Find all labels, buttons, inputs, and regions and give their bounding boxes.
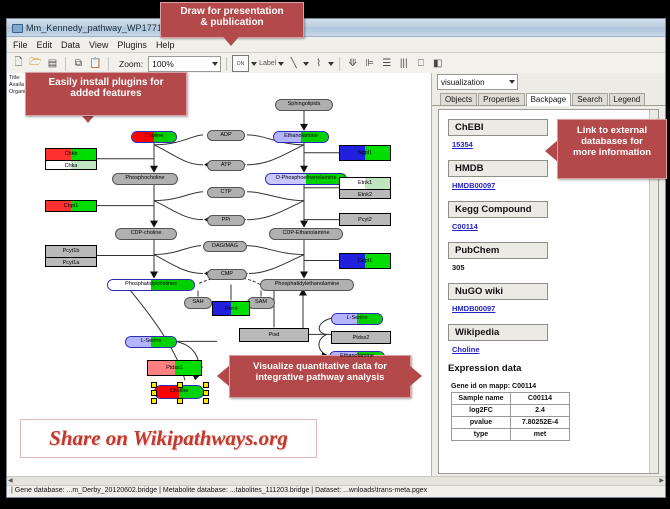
pathway-node-cdp-ethanolamine[interactable]: CDP-Ethanolamine	[269, 228, 343, 240]
toolbar-separator-1	[65, 57, 66, 71]
expression-table-key: pvalue	[452, 417, 511, 429]
node-label: ADP	[220, 133, 231, 139]
gene-row[interactable]: Sgpl1	[340, 146, 390, 161]
gene-label: Pisd	[269, 333, 280, 339]
shape-chevron-down-icon[interactable]	[328, 62, 334, 66]
node-label: O-Phosphoethanolamine	[276, 176, 337, 182]
visualization-select-value: visualization	[441, 78, 485, 87]
node-label: Sphingolipids	[288, 102, 321, 108]
screenshot-root: Mm_Kennedy_pathway_WP1771_45176.gpml Fil…	[0, 0, 670, 509]
db-header-pubchem: PubChem	[448, 242, 548, 259]
gene-row[interactable]: Etnk2	[340, 189, 390, 199]
node-label: L-Serine	[347, 316, 368, 322]
pathway-node-choline[interactable]: Choline	[131, 131, 177, 143]
callout-links: Link to external databases for more info…	[557, 119, 667, 179]
gene-label: Pemt	[225, 307, 238, 313]
db-header-hmdb: HMDB	[448, 160, 548, 177]
selection-handle[interactable]	[203, 382, 209, 388]
selection-handle[interactable]	[203, 390, 209, 396]
node-label: Phosphatidylcholines	[125, 282, 177, 288]
gene-row[interactable]: Pcyt1a	[46, 257, 96, 267]
callout-links-line3: more information	[558, 147, 666, 158]
expression-table-value: C00114	[511, 393, 570, 405]
pathway-gene-chpt1[interactable]: Chpt1	[45, 200, 97, 212]
expression-table-key: log2FC	[452, 405, 511, 417]
callout-plugins-line1: Easily install plugins for	[26, 77, 186, 88]
callout-visualize-line1: Visualize quantitative data for	[230, 361, 410, 372]
node-label: L-Serine	[141, 339, 162, 345]
db-link-hmdb[interactable]: HMDB00097	[452, 181, 658, 190]
selection-handle[interactable]	[177, 382, 183, 388]
gene-id-on-mapp: Gene id on mapp: C00114	[451, 383, 658, 390]
tab-objects[interactable]: Objects	[440, 93, 477, 105]
pathway-gene-pemt[interactable]: Pemt	[212, 301, 250, 316]
align-left-icon[interactable]: ⊫	[362, 56, 377, 71]
gene-label: Pcyt1b	[63, 249, 80, 255]
line-tool-icon[interactable]: ╲	[286, 56, 301, 71]
pathway-node-sphingolipids[interactable]: Sphingolipids	[275, 99, 333, 111]
callout-plugins: Easily install plugins for added feature…	[25, 72, 187, 116]
expression-table-row: log2FC2.4	[452, 405, 570, 417]
zoom-label: Zoom:	[119, 59, 143, 69]
db-header-nugo-wiki: NuGO wiki	[448, 283, 548, 300]
db-link-wikipedia[interactable]: Choline	[452, 345, 658, 354]
order-icon[interactable]: ◧	[430, 56, 445, 71]
node-label: Ethanolamine	[340, 354, 374, 360]
callout-links-line2: databases for	[558, 136, 666, 147]
gene-label: Pcyt2	[358, 218, 372, 224]
pathway-node-l-serine[interactable]: L-Serine	[125, 336, 177, 348]
gene-row[interactable]: Ptdss1	[148, 361, 201, 376]
pathway-gene-etnk1-etnk2[interactable]: Etnk1Etnk2	[339, 177, 391, 199]
tab-legend[interactable]: Legend	[609, 93, 646, 105]
datanode-chevron-down-icon[interactable]	[251, 62, 257, 66]
scroll-left-icon[interactable]: ◀	[8, 478, 13, 484]
pathway-node-phosphocholine[interactable]: Phosphocholine	[112, 173, 178, 185]
db-link-nugo-wiki[interactable]: HMDB00097	[452, 304, 658, 313]
node-label: Phosphatidylethanolamine	[275, 282, 340, 288]
menu-item-file[interactable]: File	[13, 40, 28, 50]
node-label: CTP	[221, 190, 232, 196]
menu-item-edit[interactable]: Edit	[37, 40, 53, 50]
app-icon	[11, 22, 22, 33]
callout-draw-arrow-icon	[220, 33, 242, 46]
expression-table-key: Sample name	[452, 393, 511, 405]
selection-handle[interactable]	[151, 390, 157, 396]
gene-row[interactable]: Chpt1	[46, 201, 96, 212]
expression-table: Sample nameC00114log2FC2.4pvalue7.80252E…	[451, 392, 570, 441]
node-label: CDP-Ethanolamine	[282, 231, 329, 237]
visualization-row: visualization	[432, 73, 665, 91]
pathway-node-ppi[interactable]: PPi	[207, 215, 245, 226]
backpage-entry-pubchem: PubChem 305	[448, 240, 658, 272]
new-document-icon[interactable]: 🗋	[11, 56, 26, 71]
distribute-horizontal-icon[interactable]: |||	[396, 56, 411, 71]
db-header-wikipedia: Wikipedia	[448, 324, 548, 341]
pathway-gene-pcyt2[interactable]: Pcyt2	[339, 213, 391, 226]
callout-visualize-line2: integrative pathway analysis	[230, 372, 410, 383]
pathway-node-phosphatidylcholines[interactable]: Phosphatidylcholines	[107, 279, 195, 291]
toolbar-separator-3	[226, 57, 227, 71]
expression-table-value: 7.80252E-4	[511, 417, 570, 429]
line-chevron-down-icon[interactable]	[303, 62, 309, 66]
node-label: Phosphocholine	[125, 176, 164, 182]
node-label: SAH	[192, 300, 203, 306]
node-label: SAM	[255, 300, 267, 306]
pathway-gene-pisd[interactable]: Pisd	[239, 328, 309, 342]
chevron-down-icon	[212, 62, 218, 66]
gene-row[interactable]: Pemt	[213, 302, 249, 316]
node-label: Ethanolamine	[284, 134, 318, 140]
pathway-node-cmp[interactable]: CMP	[207, 269, 247, 280]
pathway-gene-sgpl1[interactable]: Sgpl1	[339, 145, 391, 161]
canvas-horizontal-scrollbar[interactable]: ◀ ▶	[7, 477, 665, 486]
open-folder-icon[interactable]: 🗁	[28, 56, 43, 71]
pathway-node-o-phosphoethanolamine[interactable]: O-Phosphoethanolamine	[265, 173, 347, 185]
toolbar-separator-2	[108, 57, 109, 71]
paste-icon[interactable]: 📋	[88, 56, 103, 71]
gene-label: Pcyt1a	[63, 261, 80, 267]
gene-label: Sgpl1	[358, 151, 372, 157]
gene-label: Etnk1	[358, 181, 372, 187]
expression-table-row: Sample nameC00114	[452, 393, 570, 405]
gene-label: Chpt1	[64, 204, 79, 210]
pathway-node-atp[interactable]: ATP	[207, 160, 245, 171]
pathway-gene-ptdss2[interactable]: Ptdss2	[331, 331, 391, 344]
backpage-entry-kegg: Kegg Compound C00114	[448, 199, 658, 231]
expression-table-value: 2.4	[511, 405, 570, 417]
gene-row[interactable]: Chkb	[46, 149, 96, 160]
copy-icon[interactable]: ⧉	[71, 56, 86, 71]
status-bar-text: | Gene database: ...m_Derby_20120602.bri…	[7, 486, 665, 494]
scroll-right-icon[interactable]: ▶	[659, 478, 664, 484]
chevron-down-icon	[509, 80, 515, 84]
pathway-node-sam[interactable]: SAM	[247, 297, 275, 309]
pathway-gene-pcyt1b-pcyt1a[interactable]: Pcyt1bPcyt1a	[45, 245, 97, 267]
db-link-kegg-compound[interactable]: C00114	[452, 222, 658, 231]
side-panel-tabs: Objects Properties Backpage Search Legen…	[432, 91, 665, 106]
expression-table-key: type	[452, 429, 511, 441]
shape-tool-icon[interactable]: ⌇	[311, 56, 326, 71]
pathway-node-dag-mag[interactable]: DAG/MAG	[203, 241, 247, 252]
db-value-pubchem: 305	[452, 263, 658, 272]
gene-row[interactable]: Pisd	[240, 329, 308, 342]
tab-search[interactable]: Search	[572, 93, 607, 105]
node-label: PPi	[222, 218, 231, 224]
gene-row[interactable]: Pcyt1b	[46, 246, 96, 257]
share-banner: Share on Wikipathways.org	[20, 419, 317, 458]
callout-visualize: Visualize quantitative data for integrat…	[229, 355, 411, 398]
pathway-node-sah[interactable]: SAH	[184, 297, 212, 309]
node-label: CDP-choline	[131, 231, 162, 237]
callout-visualize-arrow-right-icon	[409, 365, 422, 387]
pathway-gene-cept1[interactable]: Cept1	[339, 253, 391, 269]
gene-label: Etnk2	[358, 193, 372, 199]
node-label: DAG/MAG	[212, 244, 238, 250]
title-bar: Mm_Kennedy_pathway_WP1771_45176.gpml	[7, 19, 665, 37]
pathway-node-cdp-choline[interactable]: CDP-choline	[115, 228, 177, 240]
selection-handle[interactable]	[151, 382, 157, 388]
pathway-gene-ptdss1[interactable]: Ptdss1	[147, 360, 202, 376]
zoom-value: 100%	[152, 59, 174, 69]
expression-table-row: pvalue7.80252E-4	[452, 417, 570, 429]
gene-label: Ptdss1	[166, 366, 183, 372]
pathway-node-phosphatidylethanolamine[interactable]: Phosphatidylethanolamine	[260, 279, 354, 291]
gene-row[interactable]: Pcyt2	[340, 214, 390, 226]
menu-item-plugins[interactable]: Plugins	[117, 40, 147, 50]
label-chevron-down-icon[interactable]	[278, 62, 284, 66]
callout-draw-line2: & publication	[161, 17, 303, 28]
status-bar: ◀ ▶ | Gene database: ...m_Derby_20120602…	[7, 476, 665, 497]
gene-row[interactable]: Chka	[46, 160, 96, 170]
tab-backpage[interactable]: Backpage	[526, 93, 572, 106]
tab-properties[interactable]: Properties	[478, 93, 524, 105]
node-label: ATP	[221, 163, 231, 169]
gene-row[interactable]: Etnk1	[340, 178, 390, 189]
gene-label: Chkb	[65, 152, 78, 158]
gene-label: Ptdss2	[353, 336, 370, 342]
gene-row[interactable]: Cept1	[340, 254, 390, 269]
pathway-gene-chkb-chka[interactable]: ChkbChka	[45, 148, 97, 170]
label-tool-label[interactable]: Label	[259, 60, 276, 67]
selection-handle[interactable]	[203, 398, 209, 404]
backpage-entry-nugo: NuGO wiki HMDB00097	[448, 281, 658, 313]
pathway-canvas[interactable]: Title: Availa Organi	[7, 73, 432, 476]
pathway-drawing[interactable]: Title: Availa Organi	[7, 73, 431, 476]
menu-item-view[interactable]: View	[89, 40, 108, 50]
datanode-tool-icon[interactable]: DN	[232, 55, 249, 72]
menu-item-data[interactable]: Data	[61, 40, 80, 50]
expression-table-value: met	[511, 429, 570, 441]
save-disk-icon[interactable]: ▤	[45, 56, 60, 71]
zoom-combo[interactable]: 100%	[148, 56, 221, 72]
callout-links-line1: Link to external	[558, 125, 666, 136]
pathway-node-adp[interactable]: ADP	[207, 130, 245, 141]
menu-bar: File Edit Data View Plugins Help	[7, 37, 665, 53]
pathway-node-ethanolamine[interactable]: Ethanolamine	[273, 131, 329, 143]
visualization-select[interactable]: visualization	[437, 74, 518, 90]
align-center-icon[interactable]: ⟱	[345, 56, 360, 71]
gene-label: Chka	[65, 164, 78, 170]
pathway-node-l-serine[interactable]: L-Serine	[331, 313, 383, 325]
db-header-kegg-compound: Kegg Compound	[448, 201, 548, 218]
node-label: Choline	[170, 389, 189, 395]
expression-table-row: typemet	[452, 429, 570, 441]
callout-plugins-line2: added features	[26, 88, 186, 99]
pathway-node-ctp[interactable]: CTP	[207, 187, 245, 198]
node-label: CMP	[221, 272, 233, 278]
selection-handle[interactable]	[151, 398, 157, 404]
share-banner-text: Share on Wikipathways.org	[49, 426, 288, 451]
stack-icon[interactable]: ⎕	[413, 56, 428, 71]
selection-handle[interactable]	[177, 398, 183, 404]
db-header-chebi: ChEBI	[448, 119, 548, 136]
node-label: Choline	[145, 134, 164, 140]
gene-row[interactable]: Ptdss2	[332, 332, 390, 344]
expression-data-title: Expression data	[448, 363, 658, 374]
distribute-vertical-icon[interactable]: ☰	[379, 56, 394, 71]
toolbar-separator-4	[339, 57, 340, 71]
menu-item-help[interactable]: Help	[156, 40, 175, 50]
gene-label: Cept1	[358, 259, 373, 265]
backpage-entry-wikipedia: Wikipedia Choline	[448, 322, 658, 354]
callout-draw-line1: Draw for presentation	[161, 6, 303, 17]
